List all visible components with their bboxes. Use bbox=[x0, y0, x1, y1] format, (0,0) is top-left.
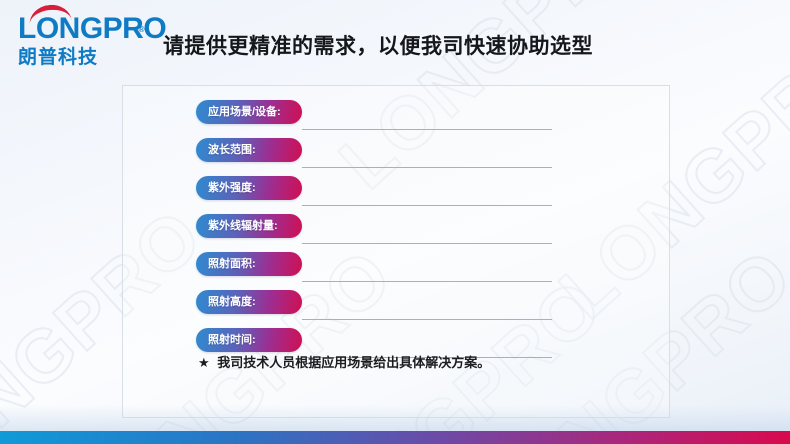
form-row: 照射面积: bbox=[196, 252, 556, 290]
company-logo: LONGPRO ® 朗普科技 bbox=[18, 14, 142, 68]
field-input-irradiation-height[interactable] bbox=[302, 319, 552, 320]
bottom-accent-bar bbox=[0, 431, 790, 444]
field-label-text: 照射面积: bbox=[208, 259, 256, 270]
slide-canvas: LONGPRO LONGPRO LONGPRO LONGPRO LONGPRO … bbox=[0, 0, 790, 444]
field-label-text: 应用场景/设备: bbox=[208, 107, 281, 118]
form-row: 紫外强度: bbox=[196, 176, 556, 214]
footnote: ★ 我司技术人员根据应用场景给出具体解决方案。 bbox=[198, 352, 490, 371]
requirement-form: 应用场景/设备: 波长范围: 紫外强度: 紫外线辐射量: 照射面积: bbox=[196, 100, 556, 366]
form-row: 应用场景/设备: bbox=[196, 100, 556, 138]
form-row: 波长范围: bbox=[196, 138, 556, 176]
field-input-irradiation-area[interactable] bbox=[302, 281, 552, 282]
field-label-pill: 波长范围: bbox=[196, 138, 302, 162]
field-label-text: 紫外线辐射量: bbox=[208, 221, 278, 232]
footnote-text: 我司技术人员根据应用场景给出具体解决方案。 bbox=[217, 355, 490, 370]
field-label-pill: 紫外线辐射量: bbox=[196, 214, 302, 238]
field-label-text: 紫外强度: bbox=[208, 183, 256, 194]
field-label-pill: 照射时间: bbox=[196, 328, 302, 352]
field-label-pill: 应用场景/设备: bbox=[196, 100, 302, 124]
form-row: 照射高度: bbox=[196, 290, 556, 328]
logo-chinese-name: 朗普科技 bbox=[18, 47, 142, 69]
field-input-uv-intensity[interactable] bbox=[302, 205, 552, 206]
field-label-pill: 紫外强度: bbox=[196, 176, 302, 200]
bottom-glow bbox=[0, 405, 790, 431]
logo-swoosh-icon bbox=[28, 3, 72, 28]
page-title: 请提供更精准的需求，以便我司快速协助选型 bbox=[163, 30, 593, 60]
logo-wordmark-row: LONGPRO ® bbox=[18, 14, 142, 44]
registered-trademark-icon: ® bbox=[139, 15, 144, 45]
form-row: 紫外线辐射量: bbox=[196, 214, 556, 252]
field-input-wavelength-range[interactable] bbox=[302, 167, 552, 168]
field-label-pill: 照射面积: bbox=[196, 252, 302, 276]
field-input-uv-radiation-dose[interactable] bbox=[302, 243, 552, 244]
star-icon: ★ bbox=[198, 355, 210, 370]
field-label-text: 照射时间: bbox=[208, 335, 256, 346]
field-label-text: 照射高度: bbox=[208, 297, 256, 308]
field-input-application-scenario[interactable] bbox=[302, 129, 552, 130]
field-label-pill: 照射高度: bbox=[196, 290, 302, 314]
field-label-text: 波长范围: bbox=[208, 145, 256, 156]
